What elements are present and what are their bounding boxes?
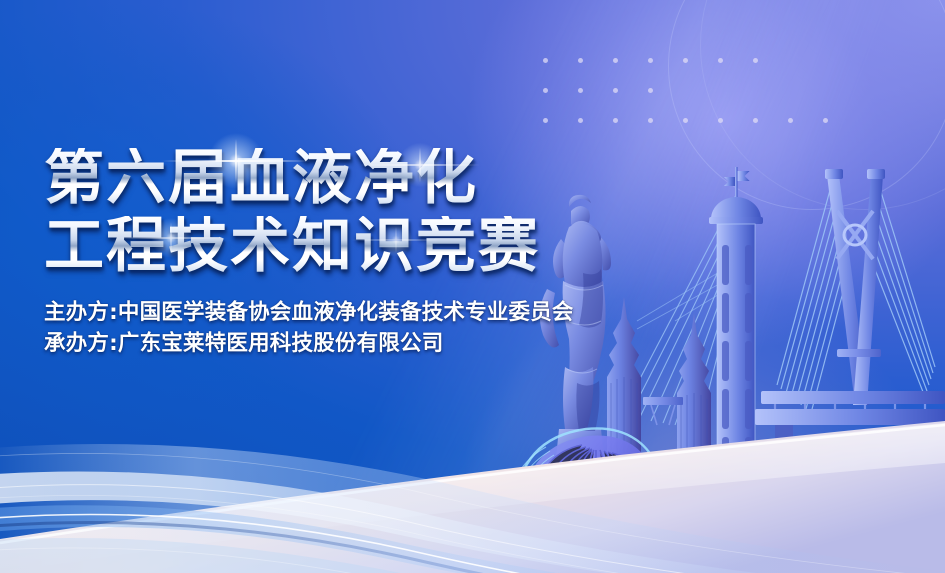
grid-dot <box>718 58 723 63</box>
grid-dot <box>648 58 653 63</box>
grid-dot <box>613 118 618 123</box>
ground-sweep <box>0 343 945 573</box>
grid-dot <box>543 88 548 93</box>
dot-grid-row <box>543 118 828 123</box>
organizer-label: 主办方:中国医学装备协会血液净化装备技术专业委员会 <box>44 298 684 329</box>
circle-outline-decor-2 <box>700 0 945 210</box>
page-title-line-1: 第六届血液净化 <box>44 148 684 208</box>
opera-house-dome-illustration <box>500 375 690 525</box>
event-banner: 第六届血液净化 工程技术知识竞赛 主办方:中国医学装备协会血液净化装备技术专业委… <box>0 0 945 573</box>
grid-dot <box>823 118 828 123</box>
grid-dot <box>578 118 583 123</box>
grid-dot <box>718 118 723 123</box>
grid-dot <box>578 58 583 63</box>
grid-dot <box>648 88 653 93</box>
grid-dot <box>753 118 758 123</box>
grid-dot <box>578 88 583 93</box>
banner-text-block: 第六届血液净化 工程技术知识竞赛 主办方:中国医学装备协会血液净化装备技术专业委… <box>44 148 684 360</box>
page-title-line-2: 工程技术知识竞赛 <box>44 216 684 276</box>
grid-dot <box>788 118 793 123</box>
host-label: 承办方:广东宝莱特医用科技股份有限公司 <box>44 329 684 360</box>
circle-outline-decor <box>668 0 945 210</box>
grid-dot <box>683 118 688 123</box>
dot-grid-pattern <box>543 58 828 148</box>
grid-dot <box>613 58 618 63</box>
grid-dot <box>753 58 758 63</box>
dot-grid-row <box>543 88 828 93</box>
grid-dot <box>613 88 618 93</box>
dot-grid-row <box>543 58 828 63</box>
grid-dot <box>648 118 653 123</box>
grid-dot <box>683 58 688 63</box>
grid-dot <box>543 118 548 123</box>
grid-dot <box>543 58 548 63</box>
organizer-block: 主办方:中国医学装备协会血液净化装备技术专业委员会 承办方:广东宝莱特医用科技股… <box>44 298 684 360</box>
